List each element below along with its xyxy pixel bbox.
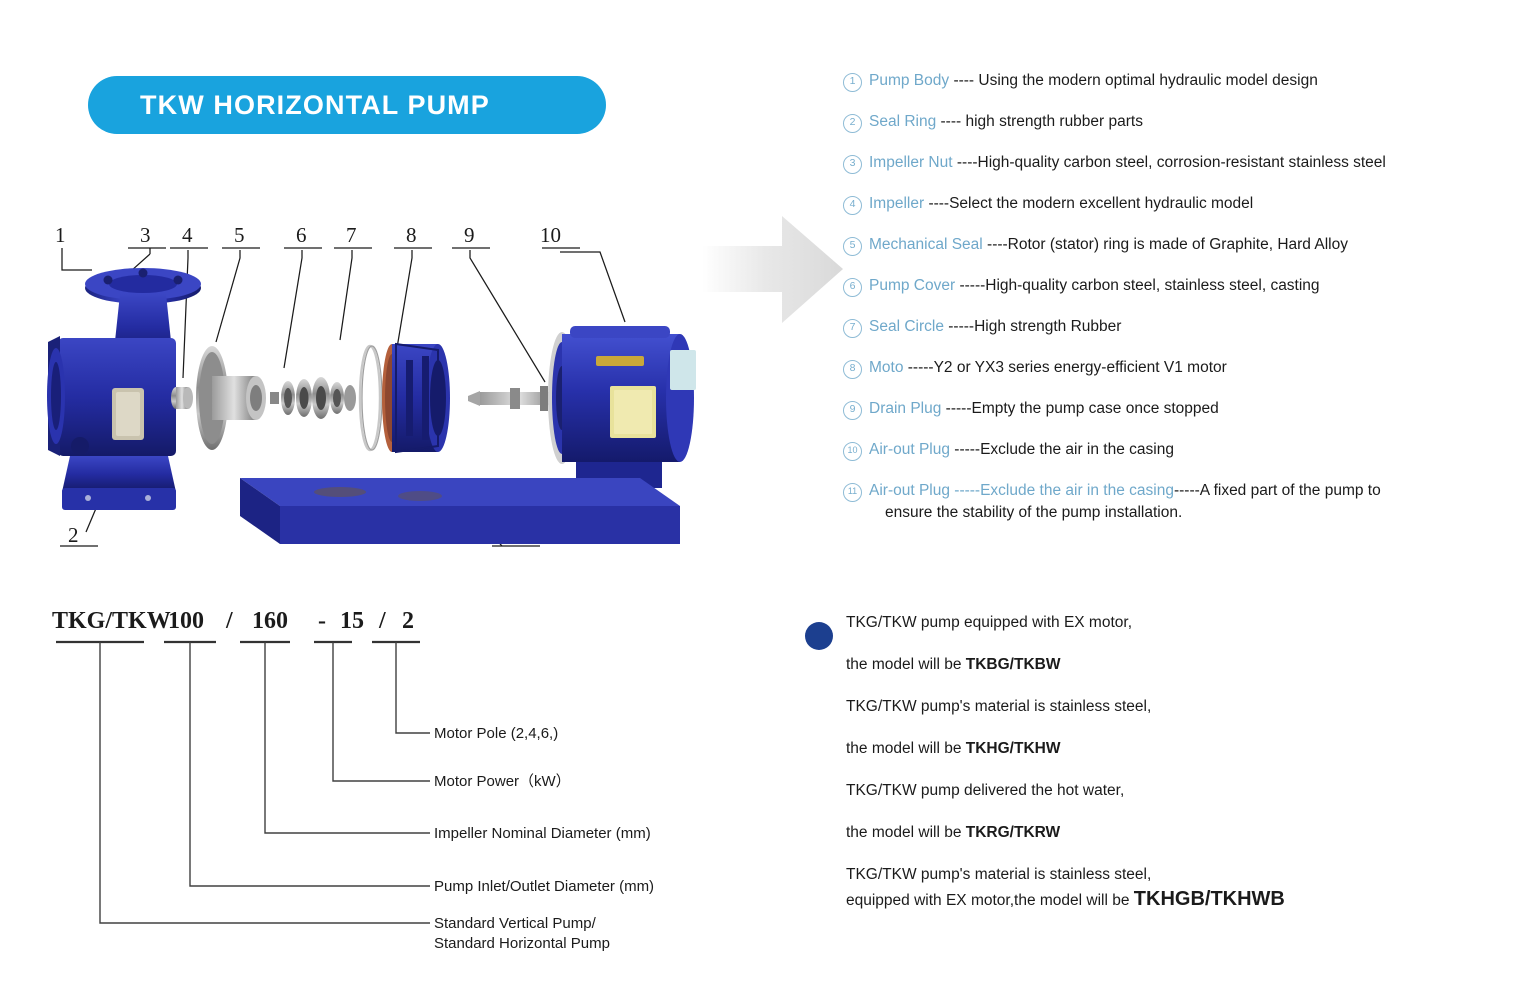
callout-3: 3 [140,223,151,247]
legend-part-name: Seal Ring [869,113,936,130]
legend-number-icon: 4 [843,196,862,215]
token-pole: 2 [402,608,414,634]
motor-part [548,326,696,488]
impeller-nut-part [171,387,193,409]
exploded-pump-diagram: 1 3 4 5 6 7 8 9 10 2 11 [40,210,700,570]
legend-part-name: Impeller [869,195,924,212]
note-4-sub: equipped with EX motor,the model will be [846,892,1134,909]
note-4-text: TKG/TKW pump's material is stainless ste… [846,866,1151,883]
model-code-tokens: TKG/TKW 100 / 160 - 15 / 2 [52,608,414,634]
note-3-text: TKG/TKW pump delivered the hot water, [846,782,1124,799]
legend-number-icon: 9 [843,401,862,420]
token-series: TKG/TKW [52,608,171,634]
note-1-sub: the model will be [846,656,966,673]
token-slash-2: / [378,608,386,634]
pump-cover-part [382,344,450,452]
callout-10: 10 [540,223,561,247]
legend-part-desc: -----High-quality carbon steel, stainles… [955,277,1319,294]
callout-2: 2 [68,523,79,547]
page-title-banner: TKW HORIZONTAL PUMP [88,76,606,134]
legend-part-desc: ---- high strength rubber parts [936,113,1143,130]
legend-part-desc-2: -----A fixed part of the pump to [1174,482,1381,499]
legend-part-desc: -----Empty the pump case once stopped [941,400,1218,417]
label-standard-horiz: Standard Horizontal Pump [434,935,610,952]
legend-item-10: 10Air-out Plug -----Exclude the air in t… [843,439,1503,461]
note-1: TKG/TKW pump equipped with EX motor, the… [846,612,1420,675]
legend-part-desc: ----Select the modern excellent hydrauli… [924,195,1253,212]
note-3-sub: the model will be [846,824,966,841]
note-2-sub: the model will be [846,740,966,757]
token-slash-1: / [225,608,233,634]
callout-5: 5 [234,223,245,247]
legend-part-name: Mechanical Seal [869,236,983,253]
callout-7: 7 [346,223,357,247]
legend-number-icon: 6 [843,278,862,297]
legend-number-icon: 1 [843,73,862,92]
note-2: TKG/TKW pump's material is stainless ste… [846,696,1420,759]
legend-number-icon: 5 [843,237,862,256]
legend-number-icon: 3 [843,155,862,174]
drain-plug-shaft-part [468,386,558,411]
legend-number-icon: 11 [843,483,862,502]
token-inlet: 100 [168,608,204,634]
legend-item-7: 7Seal Circle -----High strength Rubber [843,316,1503,338]
legend-item-1: 1Pump Body ---- Using the modern optimal… [843,70,1503,92]
model-nomenclature-diagram: TKG/TKW 100 / 160 - 15 / 2 Motor Pole (2… [40,596,740,956]
nomenclature-labels: Motor Pole (2,4,6,) Motor Power（kW） Impe… [434,725,654,952]
note-4: TKG/TKW pump's material is stainless ste… [846,864,1420,911]
legend-number-icon: 8 [843,360,862,379]
model-variant-notes: TKG/TKW pump equipped with EX motor, the… [800,612,1420,932]
legend-item-11: 11Air-out Plug -----Exclude the air in t… [843,480,1503,524]
mechanical-seal-part [270,377,356,419]
legend-item-4: 4Impeller ----Select the modern excellen… [843,193,1503,215]
token-impeller-dia: 160 [252,608,288,634]
legend-part-continuation: ensure the stability of the pump install… [885,502,1503,524]
legend-part-desc: ----Rotor (stator) ring is made of Graph… [983,236,1348,253]
legend-part-desc: -----Y2 or YX3 series energy-efficient V… [903,359,1226,376]
callout-8: 8 [406,223,417,247]
note-3: TKG/TKW pump delivered the hot water, th… [846,780,1420,843]
note-4-code: TKHGB/TKHWB [1134,888,1285,910]
legend-part-name: Drain Plug [869,400,941,417]
legend-item-5: 5Mechanical Seal ----Rotor (stator) ring… [843,234,1503,256]
note-2-code: TKHG/TKHW [966,740,1061,757]
label-inlet-dia: Pump Inlet/Outlet Diameter (mm) [434,878,654,895]
legend-number-icon: 2 [843,114,862,133]
note-1-code: TKBG/TKBW [966,656,1061,673]
legend-item-6: 6Pump Cover -----High-quality carbon ste… [843,275,1503,297]
parts-legend-list: 1Pump Body ---- Using the modern optimal… [843,70,1503,543]
callout-6: 6 [296,223,307,247]
legend-part-name: Air-out Plug [869,441,950,458]
legend-part-name: Seal Circle [869,318,944,335]
legend-item-9: 9Drain Plug -----Empty the pump case onc… [843,398,1503,420]
legend-part-desc: -----Exclude the air in the casing [950,482,1174,499]
callout-4: 4 [182,223,193,247]
legend-part-desc: ---- Using the modern optimal hydraulic … [949,72,1318,89]
legend-part-name: Air-out Plug [869,482,950,499]
impeller-part [196,346,266,450]
legend-part-name: Pump Cover [869,277,955,294]
legend-number-icon: 7 [843,319,862,338]
legend-item-2: 2Seal Ring ---- high strength rubber par… [843,111,1503,133]
base-plate-part [240,478,680,544]
callout-1: 1 [55,223,66,247]
legend-part-name: Pump Body [869,72,949,89]
legend-part-desc: -----High strength Rubber [944,318,1121,335]
note-1-text: TKG/TKW pump equipped with EX motor, [846,614,1132,631]
page-title: TKW HORIZONTAL PUMP [140,90,490,121]
note-3-code: TKRG/TKRW [966,824,1060,841]
legend-part-name: Moto [869,359,903,376]
label-impeller-dia: Impeller Nominal Diameter (mm) [434,825,651,842]
bullet-dot-icon [805,622,833,650]
token-dash: - [318,608,326,634]
seal-circle-part [360,346,382,450]
legend-number-icon: 10 [843,442,862,461]
right-arrow-icon [700,212,845,327]
note-2-text: TKG/TKW pump's material is stainless ste… [846,698,1151,715]
legend-part-name: Impeller Nut [869,154,953,171]
label-motor-power: Motor Power（kW） [434,773,571,790]
legend-part-desc: -----Exclude the air in the casing [950,441,1174,458]
token-power: 15 [340,608,364,634]
legend-part-desc: ----High-quality carbon steel, corrosion… [953,154,1386,171]
label-motor-pole: Motor Pole (2,4,6,) [434,725,558,742]
legend-item-3: 3Impeller Nut ----High-quality carbon st… [843,152,1503,174]
label-standard-vert: Standard Vertical Pump/ [434,915,597,932]
nomenclature-leaders [100,642,430,923]
legend-item-8: 8Moto -----Y2 or YX3 series energy-effic… [843,357,1503,379]
callout-9: 9 [464,223,475,247]
